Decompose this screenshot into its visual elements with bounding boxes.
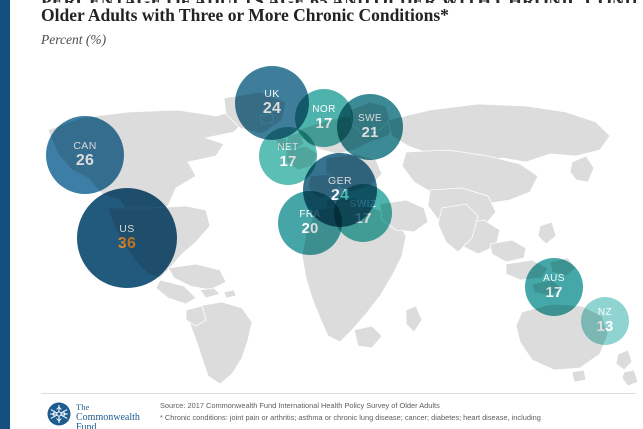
bubble-fra[interactable]: FRA20 bbox=[278, 191, 342, 255]
footer: The Commonwealth Fund Source: 2017 Commo… bbox=[41, 398, 643, 429]
bubble-country-code: SWIZ bbox=[350, 200, 377, 210]
bubble-value: 17 bbox=[315, 116, 332, 131]
bubble-value: 17 bbox=[279, 154, 296, 169]
bubble-country-code: FRA bbox=[299, 210, 320, 220]
source-text: Source: 2017 Commonwealth Fund Internati… bbox=[160, 400, 643, 412]
logo-line-the: The bbox=[76, 402, 140, 413]
bubble-swiz[interactable]: SWIZ17 bbox=[334, 184, 392, 242]
bubble-value: 36 bbox=[118, 236, 136, 252]
bubble-country-code: SWE bbox=[358, 114, 382, 124]
footnote-text: * Chronic conditions: joint pain or arth… bbox=[160, 412, 643, 424]
bubble-country-code: CAN bbox=[73, 141, 96, 152]
bubble-nz[interactable]: NZ13 bbox=[581, 297, 629, 345]
logo-line-fund: Fund bbox=[76, 423, 140, 429]
bubble-country-code: US bbox=[119, 224, 134, 235]
bubble-country-code: NET bbox=[277, 143, 298, 153]
bubble-country-code: NOR bbox=[312, 105, 335, 115]
bubble-aus[interactable]: AUS17 bbox=[525, 258, 583, 316]
infographic-root: PERCENTAGE OF ADULTS AGE 65 AND OLDER WI… bbox=[0, 0, 643, 429]
commonwealth-fund-snowflake-logo bbox=[47, 402, 71, 426]
bubble-country-code: AUS bbox=[543, 274, 565, 284]
bubble-value: 17 bbox=[354, 211, 371, 226]
source-block: Source: 2017 Commonwealth Fund Internati… bbox=[160, 400, 643, 423]
logo-wordmark: The Commonwealth Fund bbox=[76, 402, 140, 429]
bubble-value: 20 bbox=[301, 221, 318, 236]
bubble-value: 17 bbox=[545, 285, 562, 300]
bubble-value: 26 bbox=[76, 153, 94, 169]
bubble-overlay: US36CAN26UK24GER24SWE21FRA20NOR17NET17SW… bbox=[0, 0, 643, 429]
bubble-net[interactable]: NET17 bbox=[259, 127, 317, 185]
bubble-country-code: UK bbox=[264, 89, 279, 100]
bubble-country-code: GER bbox=[328, 176, 352, 187]
bubble-us[interactable]: US36 bbox=[77, 188, 177, 288]
bubble-country-code: NZ bbox=[598, 308, 612, 318]
footer-divider bbox=[41, 393, 636, 394]
bubble-value: 21 bbox=[361, 125, 378, 140]
bubble-can[interactable]: CAN26 bbox=[46, 116, 124, 194]
bubble-value: 24 bbox=[263, 101, 281, 117]
bubble-value: 13 bbox=[596, 319, 613, 334]
